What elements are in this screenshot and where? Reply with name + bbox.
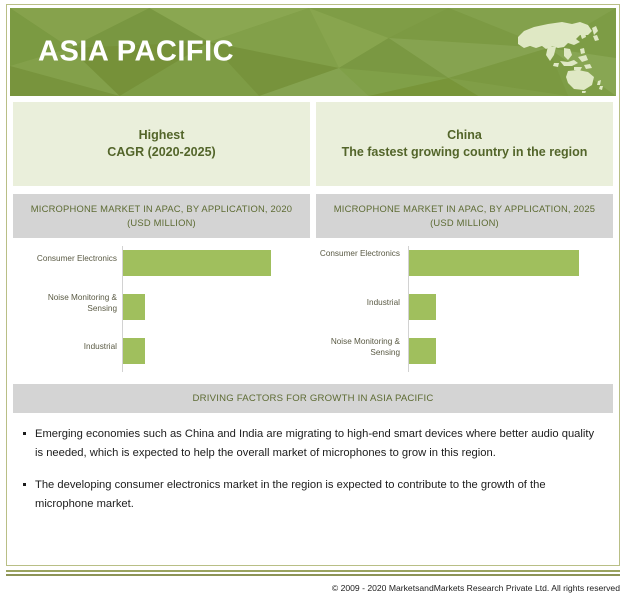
column-2020: Highest CAGR (2020-2025) MICROPHONE MARK… bbox=[13, 102, 310, 376]
list-item: The developing consumer electronics mark… bbox=[21, 476, 605, 514]
bar-noise-monitoring-sensing bbox=[409, 338, 436, 364]
highlight-title: China bbox=[447, 127, 482, 144]
bar-noise-monitoring-sensing bbox=[123, 294, 145, 320]
bar-industrial bbox=[409, 294, 436, 320]
chart-title-line1: MICROPHONE MARKET IN APAC, BY APPLICATIO… bbox=[334, 202, 595, 216]
highlight-title: Highest bbox=[139, 127, 185, 144]
footer-divider-bottom bbox=[6, 574, 620, 576]
infographic-card: ASIA PACIFIC Highest CAGR (2020-2025) MI… bbox=[6, 4, 620, 566]
bar-row: Noise Monitoring & Sensing bbox=[13, 290, 310, 324]
chart-title-line1: MICROPHONE MARKET IN APAC, BY APPLICATIO… bbox=[31, 202, 292, 216]
bar-label: Consumer Electronics bbox=[316, 249, 400, 260]
copyright-notice: © 2009 - 2020 MarketsandMarkets Research… bbox=[332, 583, 620, 593]
bar-row: Industrial bbox=[13, 334, 310, 368]
driving-factors-list: Emerging economies such as China and Ind… bbox=[7, 413, 619, 524]
page-title: ASIA PACIFIC bbox=[38, 36, 234, 69]
driving-factors-heading: DRIVING FACTORS FOR GROWTH IN ASIA PACIF… bbox=[13, 384, 613, 413]
factor-text: Emerging economies such as China and Ind… bbox=[35, 428, 594, 459]
chart-title-2020: MICROPHONE MARKET IN APAC, BY APPLICATIO… bbox=[13, 194, 310, 238]
bar-consumer-electronics bbox=[123, 250, 271, 276]
bar-label: Noise Monitoring & Sensing bbox=[17, 293, 117, 314]
bar-consumer-electronics bbox=[409, 250, 579, 276]
bar-row: Consumer Electronics bbox=[13, 246, 310, 280]
highlight-subtitle: The fastest growing country in the regio… bbox=[342, 144, 588, 161]
asia-pacific-map-icon bbox=[508, 15, 604, 93]
highlight-card-china: China The fastest growing country in the… bbox=[316, 102, 613, 186]
bar-label: Noise Monitoring & Sensing bbox=[316, 337, 400, 358]
list-item: Emerging economies such as China and Ind… bbox=[21, 425, 605, 463]
bullet-icon bbox=[23, 432, 26, 435]
highlight-card-cagr: Highest CAGR (2020-2025) bbox=[13, 102, 310, 186]
chart-title-line2: (USD MILLION) bbox=[430, 216, 499, 230]
chart-title-2025: MICROPHONE MARKET IN APAC, BY APPLICATIO… bbox=[316, 194, 613, 238]
bar-label: Industrial bbox=[316, 298, 400, 309]
bar-chart-2020: Consumer Electronics Noise Monitoring & … bbox=[13, 242, 310, 376]
bar-chart-2025: Consumer Electronics Industrial Noise Mo… bbox=[316, 242, 613, 376]
highlight-subtitle: CAGR (2020-2025) bbox=[107, 144, 215, 161]
bullet-icon bbox=[23, 483, 26, 486]
chart-title-line2: (USD MILLION) bbox=[127, 216, 196, 230]
bar-row: Industrial bbox=[316, 290, 613, 324]
bar-label: Consumer Electronics bbox=[17, 254, 117, 265]
bar-row: Consumer Electronics bbox=[316, 246, 613, 280]
factor-text: The developing consumer electronics mark… bbox=[35, 479, 546, 510]
region-banner: ASIA PACIFIC bbox=[10, 8, 616, 96]
footer-divider-top bbox=[6, 570, 620, 572]
bar-label: Industrial bbox=[17, 342, 117, 353]
bar-industrial bbox=[123, 338, 145, 364]
stats-columns: Highest CAGR (2020-2025) MICROPHONE MARK… bbox=[7, 96, 619, 376]
bar-row: Noise Monitoring & Sensing bbox=[316, 334, 613, 368]
column-2025: China The fastest growing country in the… bbox=[316, 102, 613, 376]
